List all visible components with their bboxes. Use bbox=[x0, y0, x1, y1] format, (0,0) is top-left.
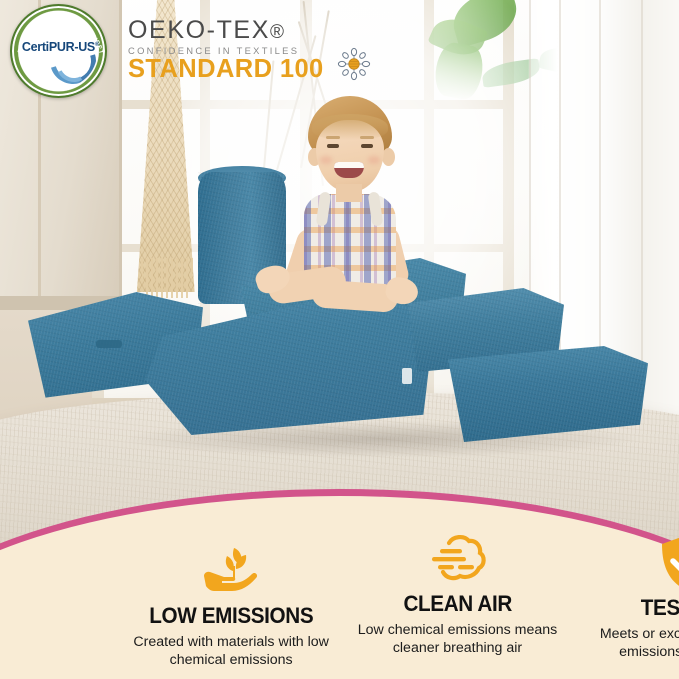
certipur-wordmark: CertiPUR-US® bbox=[12, 40, 109, 54]
child-teeth bbox=[334, 162, 364, 168]
feature-title: LOW EMISSIONS bbox=[149, 603, 313, 629]
product-label-tag bbox=[402, 368, 412, 384]
oeko-tex-flower-icon bbox=[336, 46, 372, 82]
certipur-registered-mark: ® bbox=[95, 42, 99, 48]
certification-badges: CONTAINS CERTIFIED FLEXIBLE POLYURETHANE… bbox=[0, 0, 679, 100]
foam-handle bbox=[96, 340, 122, 348]
shield-check-icon bbox=[659, 535, 679, 591]
feature-testing: TESTING Meets or exceeds required emissi… bbox=[571, 515, 679, 679]
feature-description: Created with materials with low chemical… bbox=[124, 634, 339, 669]
hand-holding-plant-icon bbox=[200, 543, 262, 599]
certipur-wordmark-text: CertiPUR-US bbox=[22, 40, 95, 54]
child-eye bbox=[327, 144, 339, 148]
feature-title: TESTING bbox=[640, 595, 679, 621]
oeko-tex-standard-label: STANDARD 100 bbox=[128, 57, 360, 83]
product-marketing-image: CONTAINS CERTIFIED FLEXIBLE POLYURETHANE… bbox=[0, 0, 679, 679]
oeko-tex-registered-mark: ® bbox=[270, 22, 286, 43]
macrame-fringe bbox=[136, 258, 198, 298]
certipur-us-seal: CONTAINS CERTIFIED FLEXIBLE POLYURETHANE… bbox=[10, 4, 107, 98]
child-model bbox=[282, 96, 442, 318]
child-cheek bbox=[320, 156, 332, 164]
child-hair-fringe bbox=[312, 114, 388, 140]
oeko-tex-badge: OEKO-TEX® CONFIDENCE IN TEXTILES STANDAR… bbox=[128, 18, 360, 80]
feature-description: Low chemical emissions means cleaner bre… bbox=[354, 622, 560, 657]
feature-low-emissions: LOW EMISSIONS Created with materials wit… bbox=[118, 515, 344, 679]
child-neck bbox=[336, 184, 362, 202]
oeko-tex-title-text: OEKO-TEX bbox=[128, 16, 270, 44]
child-cheek bbox=[368, 156, 380, 164]
feature-title: CLEAN AIR bbox=[403, 591, 511, 617]
features-banner-content: LOW EMISSIONS Created with materials wit… bbox=[118, 515, 679, 679]
child-eye bbox=[361, 144, 373, 148]
child-eyebrow bbox=[360, 136, 374, 139]
oeko-tex-title: OEKO-TEX® bbox=[128, 18, 360, 43]
child-eyebrow bbox=[326, 136, 340, 139]
feature-description: Meets or exceeds required emissions stan… bbox=[579, 626, 679, 661]
feature-clean-air: CLEAN AIR Low chemical emissions means c… bbox=[344, 515, 570, 679]
clean-air-cloud-icon bbox=[426, 531, 488, 587]
